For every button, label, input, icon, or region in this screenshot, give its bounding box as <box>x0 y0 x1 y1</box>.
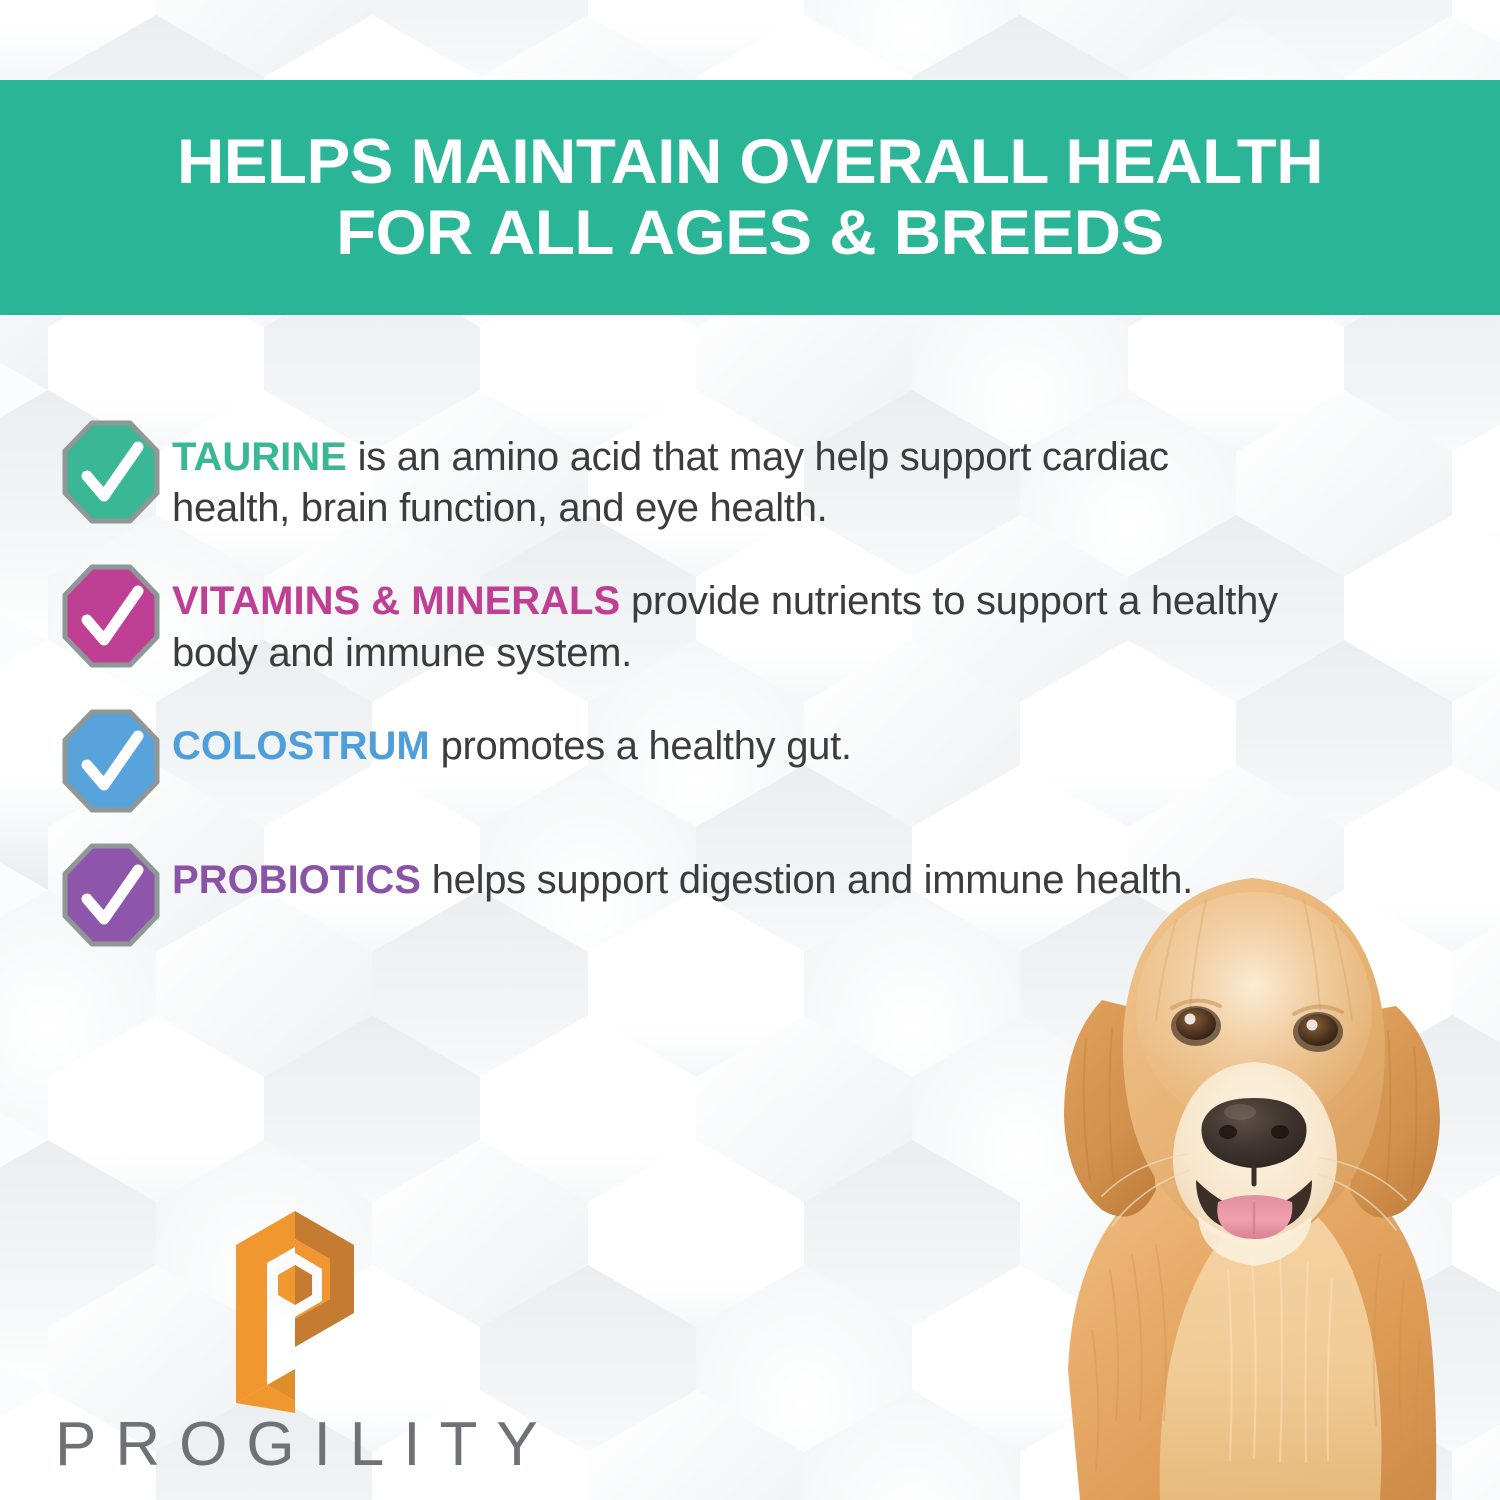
benefit-text: TAURINE is an amino acid that may help s… <box>172 418 1282 534</box>
checkmark-icon <box>62 709 160 813</box>
benefit-text: VITAMINS & MINERALS provide nutrients to… <box>172 562 1282 678</box>
benefit-keyword: PROBIOTICS <box>172 858 421 902</box>
brand-wordmark: PROGILITY <box>55 1409 557 1480</box>
benefit-item-taurine: TAURINE is an amino acid that may help s… <box>62 418 1282 534</box>
checkmark-icon <box>62 843 160 947</box>
progility-hexagon-p-logo-icon <box>230 1207 360 1417</box>
benefit-text: PROBIOTICS helps support digestion and i… <box>172 841 1282 906</box>
benefit-keyword: VITAMINS & MINERALS <box>172 579 620 623</box>
headline-line-1: HELPS MAINTAIN OVERALL HEALTH <box>177 127 1323 198</box>
product-infographic: HELPS MAINTAIN OVERALL HEALTH FOR ALL AG… <box>0 0 1500 1500</box>
checkmark-icon <box>62 564 160 668</box>
benefit-description: helps support digestion and immune healt… <box>421 858 1193 902</box>
brand-logo: PROGILITY <box>55 1207 557 1480</box>
benefit-item-probiotics: PROBIOTICS helps support digestion and i… <box>62 841 1282 947</box>
benefit-description: promotes a healthy gut. <box>430 724 852 768</box>
benefit-item-vitamins-minerals: VITAMINS & MINERALS provide nutrients to… <box>62 562 1282 678</box>
benefit-keyword: COLOSTRUM <box>172 724 430 768</box>
headline-banner: HELPS MAINTAIN OVERALL HEALTH FOR ALL AG… <box>0 80 1500 315</box>
checkmark-icon <box>62 420 160 524</box>
benefits-list: TAURINE is an amino acid that may help s… <box>62 418 1282 975</box>
benefit-item-colostrum: COLOSTRUM promotes a healthy gut. <box>62 707 1282 813</box>
benefit-text: COLOSTRUM promotes a healthy gut. <box>172 707 1282 772</box>
headline-line-2: FOR ALL AGES & BREEDS <box>336 198 1164 269</box>
benefit-keyword: TAURINE <box>172 435 347 479</box>
